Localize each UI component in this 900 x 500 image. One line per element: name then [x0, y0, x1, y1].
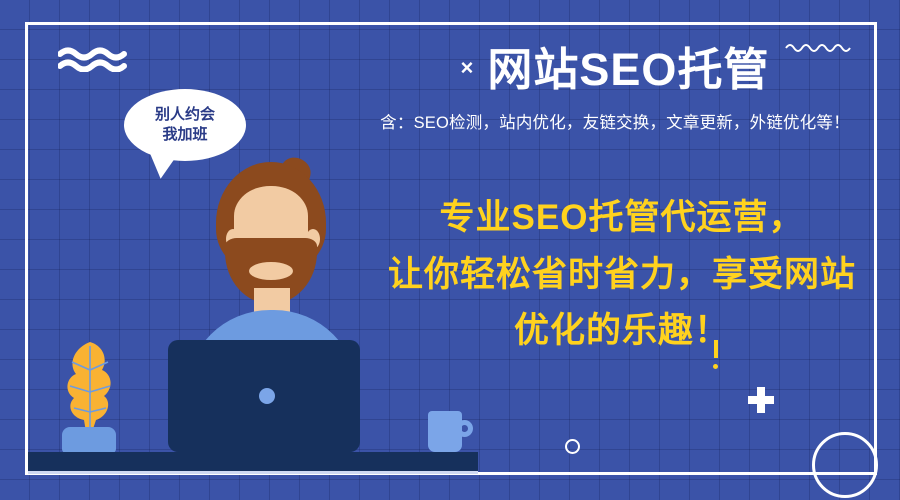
speech-bubble-line-1: 别人约会 — [155, 105, 215, 125]
plus-mark-icon — [748, 387, 774, 413]
seo-hosting-poster: × 网站SEO托管 含：SEO检测，站内优化，友链交换，文章更新，外链优化等！ … — [0, 0, 900, 500]
desk-surface — [28, 452, 478, 473]
speech-bubble-line-2: 我加班 — [162, 125, 207, 145]
coffee-mug — [428, 411, 462, 452]
laptop-logo-icon — [259, 388, 275, 404]
speech-bubble: 别人约会 我加班 — [124, 89, 246, 161]
small-circle-icon — [565, 439, 580, 454]
plant-leaf-icon — [60, 340, 120, 432]
mouth-area — [249, 262, 293, 280]
desk-edge — [28, 471, 478, 474]
illustration-scene: 别人约会 我加班 — [0, 0, 500, 500]
yellow-dot-icon — [713, 364, 718, 369]
corner-circle-icon — [812, 432, 878, 498]
plant-pot — [62, 427, 116, 453]
page-title: 网站SEO托管 — [487, 46, 769, 93]
